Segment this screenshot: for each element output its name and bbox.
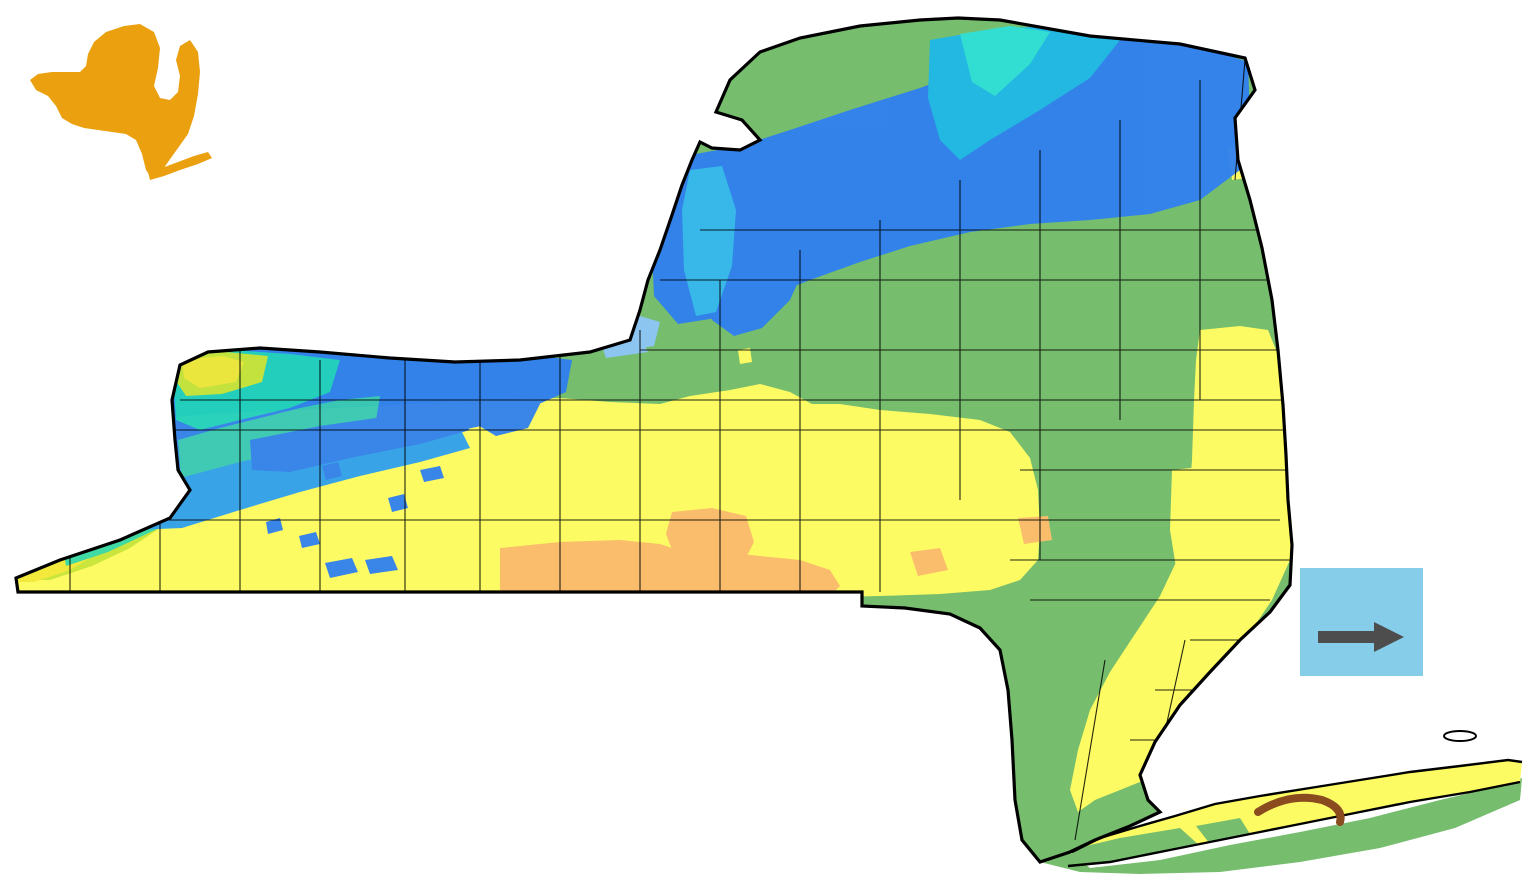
wind-scale-key — [1300, 568, 1423, 676]
fire-weather-factors-caption — [16, 622, 916, 644]
factors-colorbar — [1315, 120, 1408, 522]
nys-mesonet-logo — [28, 22, 378, 182]
new-york-state-shape — [30, 24, 200, 178]
caption-spacer — [16, 622, 916, 644]
wind-key-arrow-icon — [1316, 620, 1408, 659]
figure-canvas — [0, 0, 1536, 876]
